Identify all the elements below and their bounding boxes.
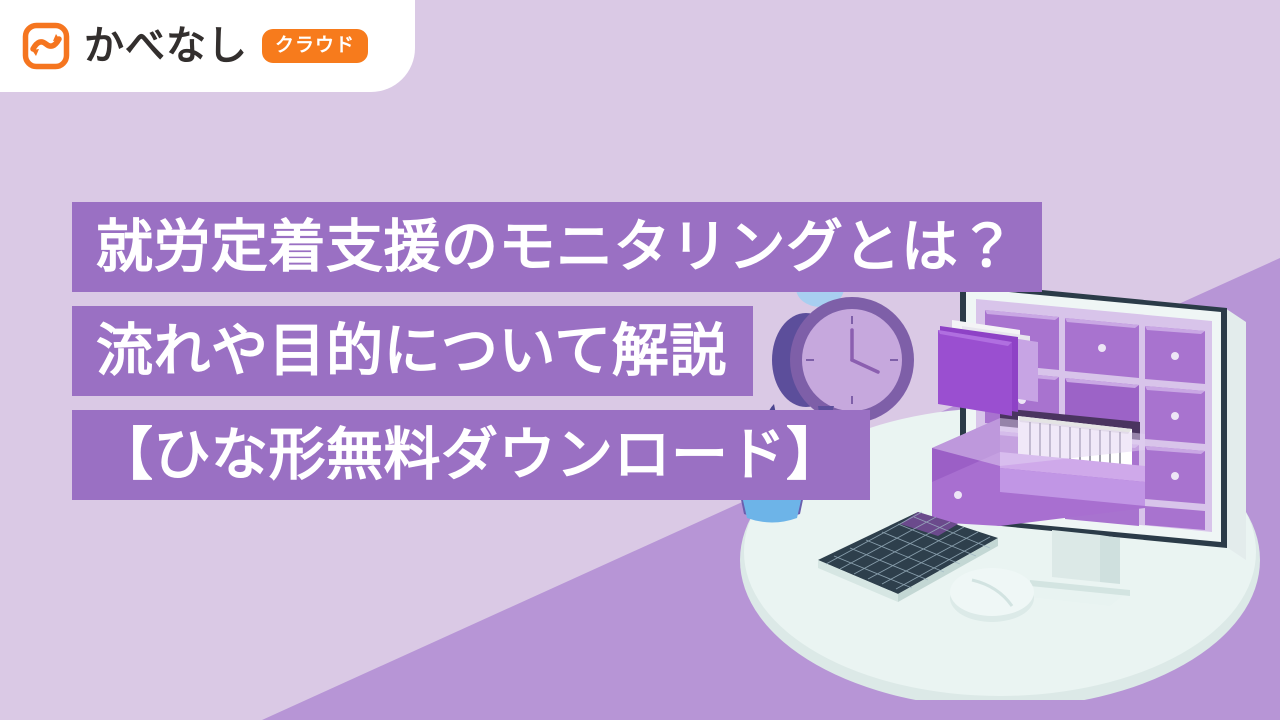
brand-badge: クラウド — [262, 29, 368, 63]
brand-logo-card[interactable]: かべなし クラウド — [0, 0, 415, 92]
monitor-neck-left — [1052, 530, 1100, 582]
kabenashi-recycle-logo-icon — [22, 22, 70, 70]
mouse — [950, 568, 1034, 622]
headline-line-1: 就労定着支援のモニタリングとは？ — [72, 202, 1042, 292]
headline-line-2: 流れや目的について解説 — [72, 306, 753, 396]
monitor-neck-right — [1100, 535, 1120, 584]
headline-row-3: 【ひな形無料ダウンロード】 — [72, 410, 1042, 500]
headline-row-2: 流れや目的について解説 — [72, 306, 1042, 396]
headline-gap-2 — [72, 396, 1042, 410]
monitor-right-edge — [1225, 308, 1246, 560]
headline-gap-1 — [72, 292, 1042, 306]
headline-row-1: 就労定着支援のモニタリングとは？ — [72, 202, 1042, 292]
headline-line-3: 【ひな形無料ダウンロード】 — [72, 410, 870, 500]
brand-name: かべなし — [84, 26, 248, 66]
banner-stage: 就労定着支援のモニタリングとは？ 流れや目的について解説 【ひな形無料ダウンロー… — [0, 0, 1280, 720]
headline-block: 就労定着支援のモニタリングとは？ 流れや目的について解説 【ひな形無料ダウンロー… — [72, 202, 1042, 500]
